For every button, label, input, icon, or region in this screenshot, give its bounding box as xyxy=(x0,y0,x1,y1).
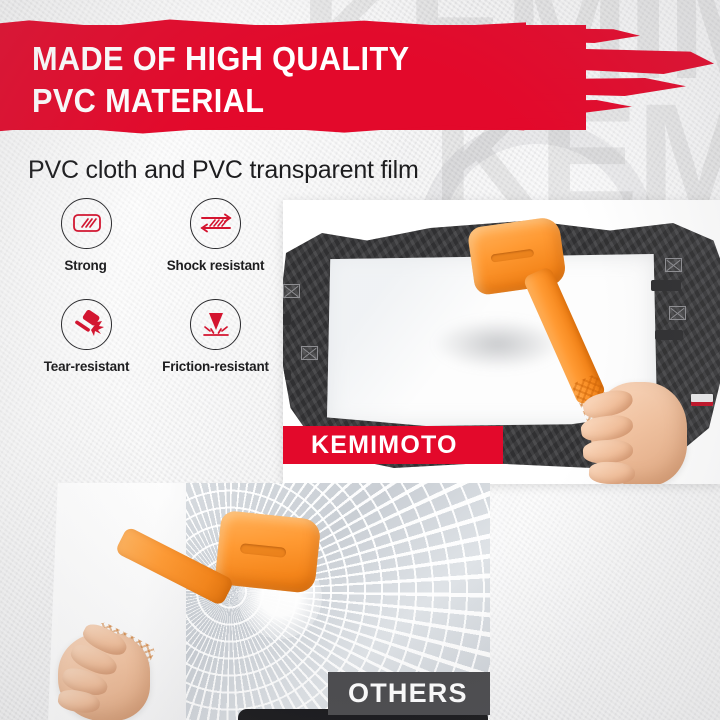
feature-label-shock-resistant: Shock resistant xyxy=(151,258,280,273)
shock-arrows-icon xyxy=(190,198,241,249)
feature-list: Strong xyxy=(22,198,280,374)
others-tag: OTHERS xyxy=(328,672,490,715)
feature-row-1: Strong xyxy=(22,198,280,273)
frame-strap-left-1 xyxy=(283,314,291,325)
friction-wedge-icon xyxy=(190,299,241,350)
feature-item-strong: Strong xyxy=(22,198,151,273)
fabric-swatch-icon xyxy=(61,198,112,249)
frame-stitch-patch-2 xyxy=(301,346,318,360)
feature-label-friction-resistant: Friction-resistant xyxy=(151,359,280,374)
hammer-impact-icon xyxy=(61,299,112,350)
frame-strap-right-1 xyxy=(651,280,681,291)
frame-stitch-patch-1 xyxy=(283,284,300,298)
frame-strap-right-2 xyxy=(655,330,683,340)
feature-item-tear-resistant: Tear-resistant xyxy=(22,299,151,374)
frame-stitch-patch-3 xyxy=(665,258,682,272)
feature-item-shock-resistant: Shock resistant xyxy=(151,198,280,273)
product-feature-poster: KEMIMOTO KEMIMOTO MADE OF HIGH QUALITY P… xyxy=(0,0,720,720)
feature-item-friction-resistant: Friction-resistant xyxy=(151,299,280,374)
subtitle: PVC cloth and PVC transparent film xyxy=(28,156,419,185)
finger-pinky xyxy=(589,461,636,484)
headline: MADE OF HIGH QUALITY PVC MATERIAL xyxy=(32,38,516,122)
feature-label-strong: Strong xyxy=(22,258,151,273)
kemimoto-brand-label-patch xyxy=(691,394,713,406)
headline-line-1: MADE OF HIGH QUALITY xyxy=(32,38,516,80)
frame-strap-left-2 xyxy=(283,370,291,380)
frame-stitch-patch-4 xyxy=(669,306,686,320)
kemimoto-tag: KEMIMOTO xyxy=(283,426,503,464)
others-product-photo: OTHERS xyxy=(48,483,490,720)
feature-row-2: Tear-resistant Friction xyxy=(22,273,280,374)
feature-label-tear-resistant: Tear-resistant xyxy=(22,359,151,374)
kemimoto-product-photo: KEMIMOTO xyxy=(283,200,720,484)
headline-line-2: PVC MATERIAL xyxy=(32,80,516,122)
